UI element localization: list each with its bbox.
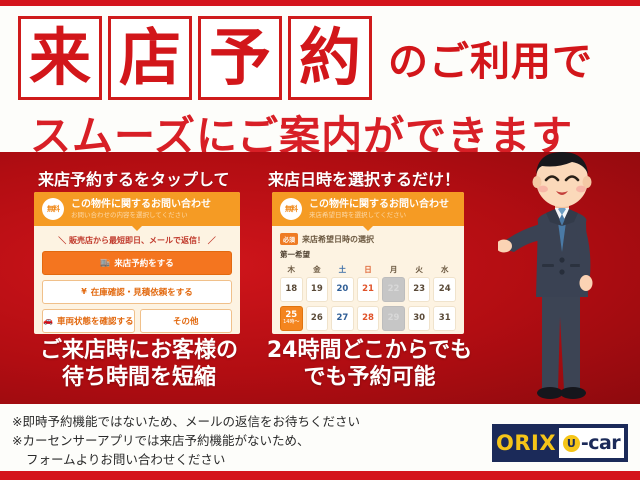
vehicle-condition-button[interactable]: 🚗 車両状態を確認する	[42, 309, 135, 333]
header-section: 来 店 予 約 のご利用で スムーズにご案内ができます	[0, 6, 640, 152]
stock-quote-button[interactable]: ¥ 在庫確認・見積依頼をする	[42, 280, 232, 304]
inquiry-form-subtitle: お問い合わせの内容を選択してください	[71, 212, 211, 219]
stock-quote-label: 在庫確認・見積依頼をする	[91, 286, 193, 298]
vehicle-condition-label: 車両状態を確認する	[57, 315, 134, 327]
kanji-box-4: 約	[288, 16, 372, 100]
section-label-row: 必須 来店希望日時の選択	[280, 233, 456, 245]
calendar-week-1: 18 19 20 21 22 23 24	[280, 277, 456, 302]
calendar-mockup: 無料 この物件に関するお問い合わせ 来店希望日時を選択してください 必須 来店希…	[272, 192, 464, 334]
store-icon: 🏬	[100, 259, 110, 267]
calendar-day-disabled: 22	[382, 277, 405, 302]
ucar-wordmark: U -car	[559, 428, 624, 458]
calendar-day-selected[interactable]: 25 14時〜	[280, 306, 303, 331]
footnote-3: フォームよりお問い合わせください	[12, 450, 452, 469]
calendar-week-2: 25 14時〜 26 27 28 29 30 31	[280, 306, 456, 331]
dow-fri: 金	[306, 263, 329, 277]
footnotes: ※即時予約機能ではないため、メールの返信をお待ちください ※カーセンサーアプリで…	[12, 412, 452, 469]
header-notch	[363, 226, 373, 231]
calendar-day[interactable]: 30	[408, 306, 431, 331]
other-label: その他	[173, 315, 199, 327]
day-number: 19	[311, 285, 323, 294]
car-text: -car	[581, 432, 620, 454]
header-notch	[132, 226, 142, 231]
calendar-day[interactable]: 26	[306, 306, 329, 331]
dow-thu: 木	[280, 263, 303, 277]
dow-mon: 月	[382, 263, 405, 277]
inquiry-form-title: この物件に関するお問い合わせ	[71, 199, 211, 211]
calendar-day[interactable]: 28	[357, 306, 380, 331]
calendar-day-disabled: 29	[382, 306, 405, 331]
day-number: 27	[337, 314, 349, 323]
headline-tail: のご利用で	[388, 29, 593, 87]
orix-wordmark: ORIX	[493, 425, 559, 461]
left-panel-heading: 来店予約するをタップして	[38, 166, 230, 190]
benefit-left: ご来店時にお客様の 待ち時間を短縮	[22, 338, 256, 392]
visit-reservation-button[interactable]: 🏬 来店予約をする	[42, 251, 232, 275]
benefit-right-line2: でも予約可能	[262, 365, 477, 392]
calendar-form-header: 無料 この物件に関するお問い合わせ 来店希望日時を選択してください	[272, 192, 464, 226]
calendar-day[interactable]: 27	[331, 306, 354, 331]
u-circle-icon: U	[563, 435, 580, 452]
day-number: 24	[439, 285, 451, 294]
calendar-day[interactable]: 31	[433, 306, 456, 331]
promo-banner: 来 店 予 約 のご利用で スムーズにご案内ができます 来店予約するをタップして…	[0, 0, 640, 480]
day-number: 31	[439, 314, 451, 323]
day-number: 22	[388, 285, 400, 294]
kanji-box-3: 予	[198, 16, 282, 100]
inquiry-form-header: 無料 この物件に関するお問い合わせ お問い合わせの内容を選択してください	[34, 192, 240, 226]
car-icon: 🚗	[43, 317, 53, 325]
calendar-day[interactable]: 18	[280, 277, 303, 302]
headline-primary: 来 店 予 約 のご利用で	[18, 16, 593, 100]
inquiry-form-mockup: 無料 この物件に関するお問い合わせ お問い合わせの内容を選択してください ＼ 販…	[34, 192, 240, 334]
calendar-form-title: この物件に関するお問い合わせ	[309, 199, 449, 211]
right-panel-heading: 来店日時を選択するだけ！	[268, 166, 460, 190]
day-number: 26	[311, 314, 323, 323]
dow-sat: 土	[331, 263, 354, 277]
dow-wed: 水	[433, 263, 456, 277]
free-badge: 無料	[280, 198, 302, 220]
section-label: 来店希望日時の選択	[302, 234, 374, 245]
calendar-day[interactable]: 21	[357, 277, 380, 302]
other-button[interactable]: その他	[140, 309, 233, 333]
salesman-illustration	[498, 152, 626, 404]
reply-note: ＼ 販売店から最短即日、メールで返信！ ／	[42, 235, 232, 246]
day-number: 20	[337, 285, 349, 294]
benefit-left-line2: 待ち時間を短縮	[22, 365, 256, 392]
benefit-right-line1: 24時間どこからでも	[262, 338, 477, 365]
calendar-grid: 木 金 土 日 月 火 水 18 19 20 21 22 23 24	[280, 263, 456, 331]
kanji-box-1: 来	[18, 16, 102, 100]
yen-icon: ¥	[81, 288, 87, 296]
benefit-left-line1: ご来店時にお客様の	[22, 338, 256, 365]
required-badge: 必須	[280, 233, 298, 245]
calendar-day[interactable]: 19	[306, 277, 329, 302]
free-badge: 無料	[42, 198, 64, 220]
calendar-day[interactable]: 20	[331, 277, 354, 302]
calendar-form-subtitle: 来店希望日時を選択してください	[309, 212, 449, 219]
benefit-right: 24時間どこからでも でも予約可能	[262, 338, 477, 392]
day-number: 29	[388, 314, 400, 323]
day-number: 23	[413, 285, 425, 294]
day-number: 30	[413, 314, 425, 323]
dow-tue: 火	[408, 263, 431, 277]
bottom-red-rule	[0, 471, 640, 480]
day-number: 28	[362, 314, 374, 323]
footnote-1: ※即時予約機能ではないため、メールの返信をお待ちください	[12, 412, 452, 431]
day-time-slot: 14時〜	[283, 320, 299, 325]
dow-sun: 日	[357, 263, 380, 277]
visit-reservation-label: 来店予約をする	[114, 257, 174, 269]
kanji-box-2: 店	[108, 16, 192, 100]
calendar-dow-row: 木 金 土 日 月 火 水	[280, 263, 456, 277]
preference-label: 第一希望	[280, 249, 456, 260]
footnote-2: ※カーセンサーアプリでは来店予約機能がないため、	[12, 431, 452, 450]
day-number: 18	[285, 285, 297, 294]
secondary-button-row: 🚗 車両状態を確認する その他	[42, 309, 232, 333]
orix-ucar-logo: ORIX U -car	[492, 424, 628, 462]
calendar-day[interactable]: 24	[433, 277, 456, 302]
day-number: 21	[362, 285, 374, 294]
calendar-day[interactable]: 23	[408, 277, 431, 302]
